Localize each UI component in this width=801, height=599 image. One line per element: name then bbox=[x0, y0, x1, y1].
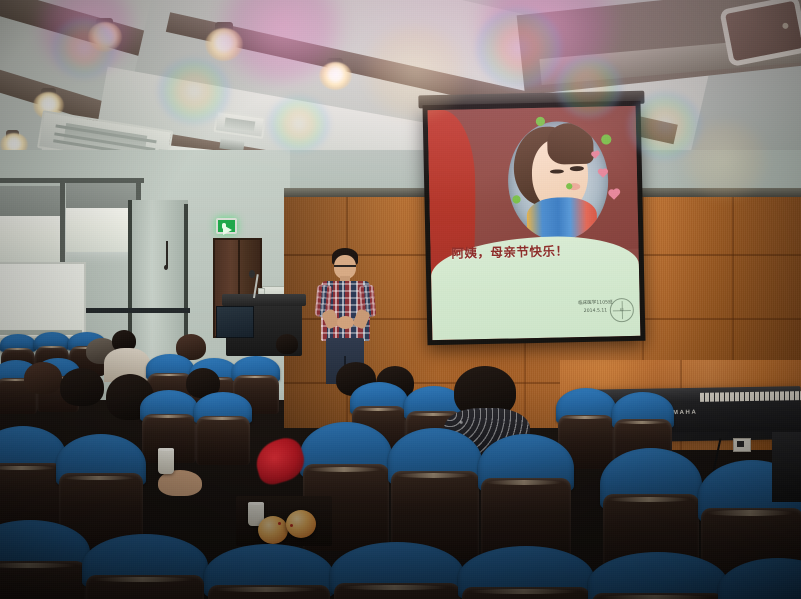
photo-scene: 阿姨，母亲节快乐！ 临床医学1105班 2014.5.11 印 bbox=[0, 0, 801, 599]
paper-cup-upper bbox=[158, 448, 174, 474]
slide-credit-date: 2014.5.11 bbox=[578, 307, 613, 316]
seat-cushion bbox=[588, 552, 728, 599]
seat-highlight bbox=[599, 595, 711, 599]
spotlight-2 bbox=[205, 28, 243, 61]
seat-highlight bbox=[214, 587, 318, 592]
seat-row5-b[interactable] bbox=[82, 534, 208, 599]
seat-highlight bbox=[341, 585, 448, 590]
seat-row5-f[interactable] bbox=[588, 552, 728, 599]
slide-clover-icon-2 bbox=[601, 134, 611, 144]
peach-right bbox=[286, 510, 316, 538]
microphone-icon bbox=[249, 270, 255, 278]
presenter-glasses-icon bbox=[334, 265, 356, 267]
seat-row5-g[interactable] bbox=[718, 558, 801, 599]
wall-column-rail bbox=[86, 308, 190, 313]
seat-row5-e[interactable] bbox=[458, 546, 594, 599]
equipment-rack bbox=[772, 432, 801, 502]
peach-spot bbox=[278, 522, 281, 525]
window-mullion-1 bbox=[60, 182, 65, 264]
window-header-rail bbox=[0, 178, 144, 183]
seat-highlight bbox=[37, 346, 66, 348]
seat-back-panel bbox=[196, 416, 251, 465]
exit-arrow-icon bbox=[223, 225, 232, 235]
seat-row5-c[interactable] bbox=[204, 544, 334, 599]
seat-row4-e[interactable] bbox=[478, 434, 574, 562]
seat-highlight bbox=[3, 348, 32, 350]
seat-highlight bbox=[145, 415, 191, 418]
projection-screen: 阿姨，母亲节快乐！ 临床医学1105班 2014.5.11 印 bbox=[423, 101, 646, 346]
seat-row5-a[interactable] bbox=[0, 520, 90, 599]
audience-head-4 bbox=[276, 334, 298, 354]
seat-row4-d[interactable] bbox=[388, 428, 482, 554]
audience-head-5 bbox=[24, 362, 62, 394]
spotlight-1 bbox=[88, 22, 122, 52]
window-blind-left bbox=[0, 186, 64, 216]
slide-bouquet-icon bbox=[526, 197, 597, 239]
seat-highlight bbox=[707, 510, 793, 516]
seat-highlight bbox=[92, 577, 193, 582]
presenter-hands bbox=[337, 316, 354, 329]
seat-cushion bbox=[718, 558, 801, 599]
spotlight-5 bbox=[319, 62, 352, 90]
lectern-top bbox=[222, 294, 306, 306]
exit-sign bbox=[216, 218, 237, 234]
slide-headline: 阿姨，母亲节快乐！ bbox=[451, 240, 622, 263]
peach-spot bbox=[290, 524, 293, 527]
seat-row3-b[interactable] bbox=[194, 392, 252, 462]
screen-pull-cord-handle[interactable] bbox=[164, 265, 168, 270]
seat-highlight bbox=[469, 589, 578, 594]
audience-seating bbox=[0, 330, 801, 599]
seat-highlight bbox=[409, 413, 457, 416]
seat-highlight bbox=[307, 467, 381, 472]
seat-highlight bbox=[0, 466, 56, 470]
seat-highlight bbox=[617, 421, 667, 424]
peach-left bbox=[258, 516, 288, 544]
screen-pull-cord bbox=[166, 241, 168, 267]
slide-content: 阿姨，母亲节快乐！ 临床医学1105班 2014.5.11 印 bbox=[428, 106, 641, 340]
whiteboard bbox=[0, 262, 86, 338]
ac-vent-right-grill bbox=[224, 117, 255, 131]
screen-frame: 阿姨，母亲节快乐！ 临床医学1105班 2014.5.11 印 bbox=[423, 101, 646, 346]
seat-highlight bbox=[199, 417, 245, 420]
seat-row5-d[interactable] bbox=[330, 542, 464, 599]
window-left bbox=[0, 214, 62, 262]
slide-credit: 临床医学1105班 2014.5.11 bbox=[578, 299, 613, 316]
audience-head-6 bbox=[60, 368, 104, 406]
seat-highlight bbox=[355, 408, 401, 411]
